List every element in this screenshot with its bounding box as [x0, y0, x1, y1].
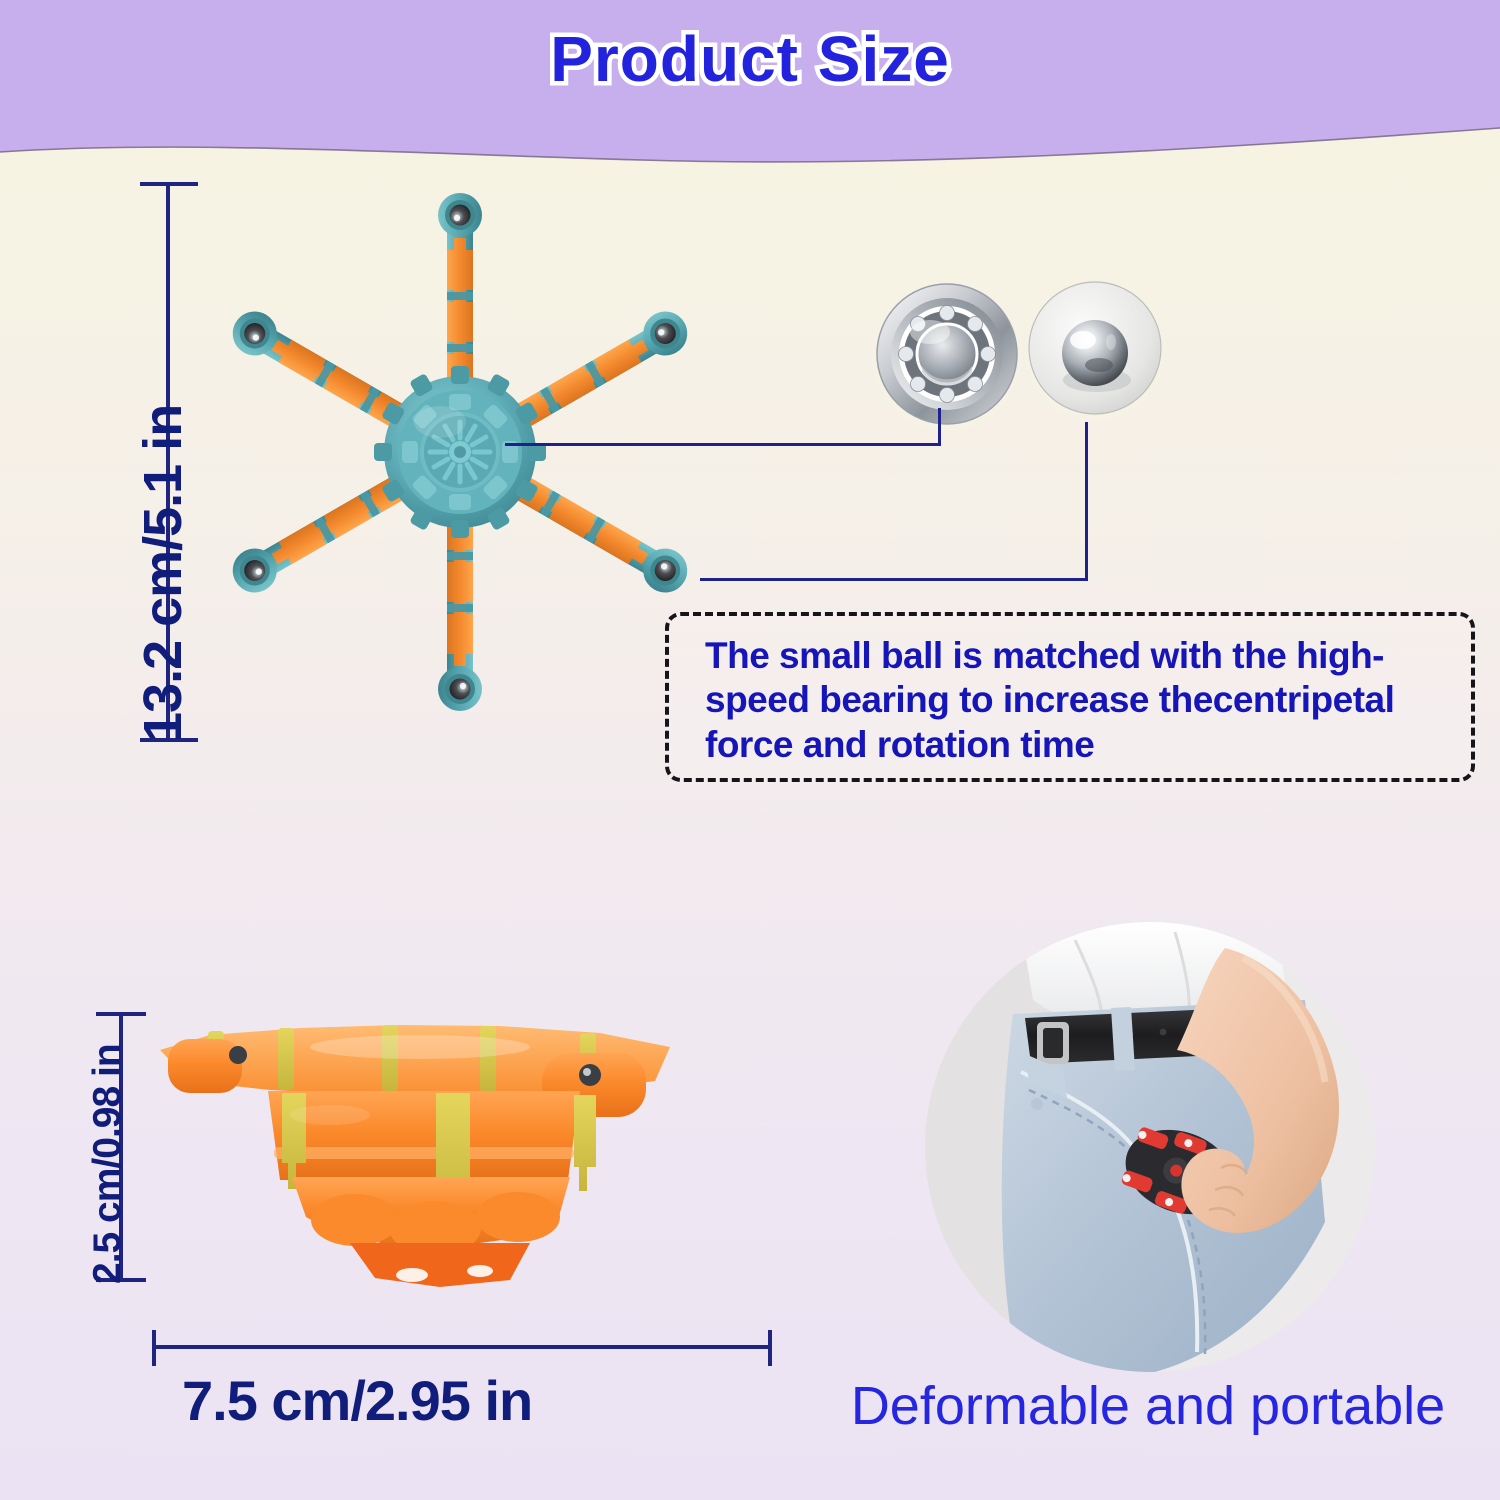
folded-spinner-side-view	[150, 995, 695, 1295]
folded-width-cap-right	[768, 1330, 772, 1366]
steel-ball-photo	[1025, 280, 1165, 420]
folded-width-line	[152, 1345, 772, 1349]
main-height-label: 13.2 cm/5.1 in	[132, 405, 194, 742]
portable-caption: Deformable and portable	[818, 1375, 1478, 1437]
product-size-infographic: Product Size 13.2 cm/5.1 in	[0, 0, 1500, 1500]
leader-line-bearing-horizontal	[505, 443, 941, 446]
page-title: Product Size	[0, 22, 1500, 96]
leader-line-bearing-vertical	[938, 408, 941, 446]
callout-box: The small ball is matched with the high-…	[665, 612, 1475, 782]
folded-width-label: 7.5 cm/2.95 in	[182, 1368, 532, 1433]
folded-height-label: 2.5 cm/0.98 in	[86, 1044, 130, 1284]
ball-bearing-photo	[872, 280, 1022, 430]
six-arm-spinner-top-view	[190, 160, 730, 740]
leader-line-ball-vertical	[1085, 422, 1088, 581]
leader-line-ball-horizontal	[700, 578, 1088, 581]
callout-text: The small ball is matched with the high-…	[705, 634, 1450, 767]
spinner-in-pocket-photo	[925, 922, 1375, 1372]
